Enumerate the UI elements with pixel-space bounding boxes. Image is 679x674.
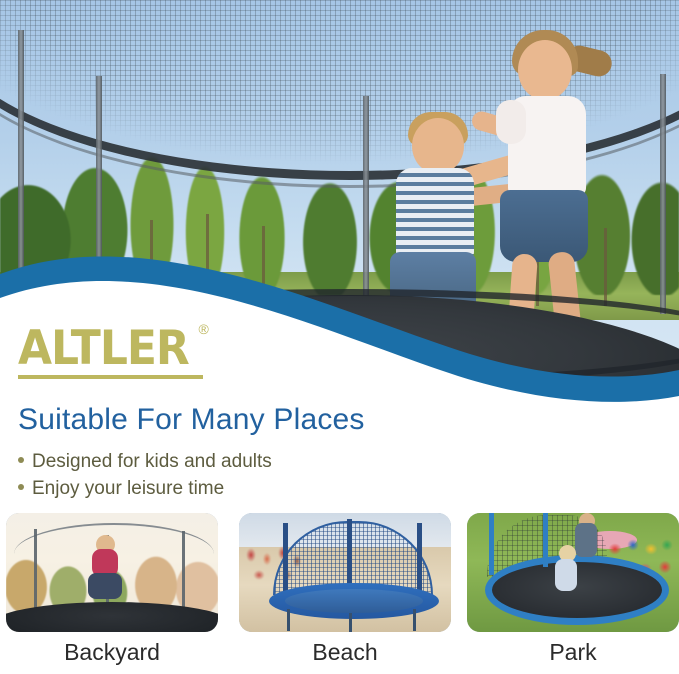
park-child-standing-body: [575, 523, 597, 557]
card-caption: Park: [549, 640, 596, 665]
park-net-post: [543, 513, 548, 567]
net-pole: [660, 74, 666, 314]
logo-wordmark-row: ALTLER ®: [18, 325, 189, 369]
beach-net-post: [283, 523, 288, 597]
girl-sleeve: [496, 100, 526, 144]
backyard-trampoline-mat: [6, 602, 218, 632]
net-pole: [18, 30, 24, 316]
brand-lockup: ALTLER ®: [18, 325, 278, 379]
beach-trampoline-bed: [285, 589, 423, 613]
boy-head: [412, 118, 464, 174]
net-pole: [363, 96, 369, 310]
park-net-post: [489, 513, 494, 575]
use-case-card-row: Backyard Beach: [0, 513, 679, 674]
registered-trademark-icon: ®: [198, 321, 208, 337]
logo-wordmark: ALTLER: [18, 325, 189, 373]
park-child-sitting-body: [555, 559, 577, 591]
backyard-thumbnail: [6, 513, 218, 632]
card-caption: Beach: [312, 640, 377, 665]
park-thumbnail: [467, 513, 679, 632]
card-caption: Backyard: [64, 640, 160, 665]
bullet-dot-icon: [18, 484, 24, 490]
park-trampoline-rim: [485, 555, 669, 625]
use-case-card-beach: Beach: [239, 513, 451, 665]
girl-denim-shorts: [500, 190, 588, 262]
page-title: Suitable For Many Places: [18, 403, 365, 437]
bullet-text: Enjoy your leisure time: [32, 478, 224, 499]
net-pole: [96, 76, 102, 316]
use-case-card-backyard: Backyard: [6, 513, 218, 665]
beach-net-post: [417, 523, 422, 597]
boy-striped-shirt: [396, 168, 474, 260]
backyard-child-legs: [88, 573, 122, 599]
bullet-dot-icon: [18, 457, 24, 463]
girl-head: [518, 40, 572, 100]
beach-thumbnail: [239, 513, 451, 632]
product-banner: ALTLER ® Suitable For Many Places Design…: [0, 0, 679, 674]
bullet-text: Designed for kids and adults: [32, 451, 272, 472]
beach-trampoline-leg: [413, 609, 416, 631]
list-item: Designed for kids and adults: [18, 448, 272, 475]
beach-trampoline-leg: [349, 613, 352, 632]
feature-bullet-list: Designed for kids and adults Enjoy your …: [18, 448, 272, 502]
list-item: Enjoy your leisure time: [18, 475, 272, 502]
use-case-card-park: Park: [467, 513, 679, 665]
beach-trampoline-leg: [287, 609, 290, 631]
